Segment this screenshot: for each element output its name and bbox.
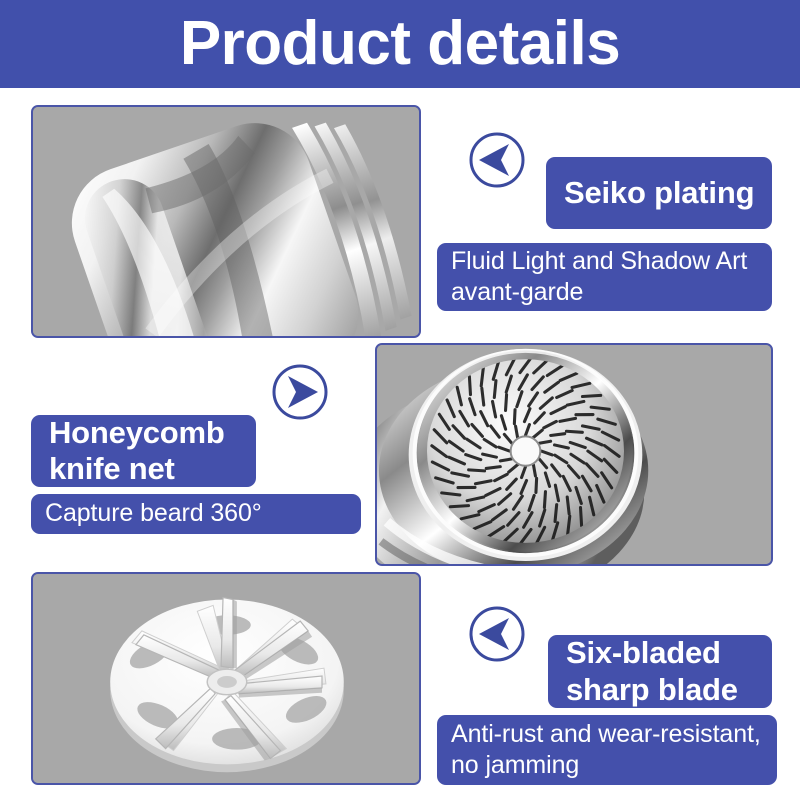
heading-line: sharp blade xyxy=(566,672,754,708)
product-photo-honeycomb-knife-net xyxy=(375,343,773,566)
page-header-banner: Product details xyxy=(0,0,800,88)
arrow-right-circle-icon xyxy=(270,362,330,422)
description-line: no jamming xyxy=(451,750,763,781)
callout-description-six-bladed-sharp-blade: Anti-rust and wear-resistant, no jamming xyxy=(437,715,777,785)
description-line: Fluid Light and Shadow Art xyxy=(451,246,758,277)
heading-line: Honeycomb xyxy=(49,415,238,451)
callout-description-seiko-plating: Fluid Light and Shadow Art avant-garde xyxy=(437,243,772,311)
callout-heading-honeycomb-knife-net: Honeycomb knife net xyxy=(31,415,256,487)
heading-line: Six-bladed xyxy=(566,635,754,671)
description-line: avant-garde xyxy=(451,277,758,308)
arrow-left-circle-icon xyxy=(467,604,527,664)
heading-line: knife net xyxy=(49,451,238,487)
callout-heading-six-bladed-sharp-blade: Six-bladed sharp blade xyxy=(548,635,772,708)
honeycomb-mesh-illustration xyxy=(377,345,771,564)
cutter-disc-illustration xyxy=(33,574,419,783)
chrome-body-illustration xyxy=(33,107,419,336)
product-details-infographic: Product details xyxy=(0,0,800,800)
callout-description-honeycomb-knife-net: Capture beard 360° xyxy=(31,494,361,534)
arrow-left-circle-icon xyxy=(467,130,527,190)
product-photo-six-bladed-sharp-blade xyxy=(31,572,421,785)
description-line: Capture beard 360° xyxy=(45,498,347,529)
heading-line: Seiko plating xyxy=(564,175,754,211)
page-title: Product details xyxy=(180,13,620,75)
product-photo-seiko-plating xyxy=(31,105,421,338)
callout-heading-seiko-plating: Seiko plating xyxy=(546,157,772,229)
description-line: Anti-rust and wear-resistant, xyxy=(451,719,763,750)
